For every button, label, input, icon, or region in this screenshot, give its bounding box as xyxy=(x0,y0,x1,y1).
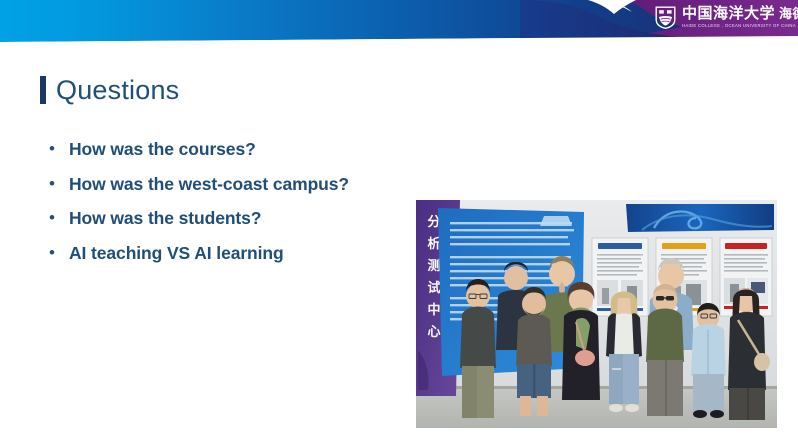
questions-list: • How was the courses? • How was the wes… xyxy=(45,138,415,276)
list-item-label: How was the students? xyxy=(69,207,261,229)
bullet-dot-icon: • xyxy=(45,207,69,229)
logo-college-name-cn: 海德学院 xyxy=(779,8,798,21)
college-crest-icon xyxy=(655,6,676,29)
bullet-dot-icon: • xyxy=(45,242,69,264)
bullet-dot-icon: • xyxy=(45,173,69,195)
logo-text: 中国海洋大学 海德学院 HAIDE COLLEGE , OCEAN UNIVER… xyxy=(682,6,798,28)
page-title-row: Questions xyxy=(40,76,179,104)
list-item: • How was the courses? xyxy=(45,138,415,160)
institution-logo: 中国海洋大学 海德学院 HAIDE COLLEGE , OCEAN UNIVER… xyxy=(655,6,798,29)
title-accent-bar xyxy=(40,76,46,104)
list-item: • How was the west-coast campus? xyxy=(45,173,415,195)
bullet-dot-icon: • xyxy=(45,138,69,160)
list-item-label: How was the west-coast campus? xyxy=(69,173,349,195)
logo-university-name-cn: 中国海洋大学 xyxy=(682,6,775,21)
list-item: • AI teaching VS AI learning xyxy=(45,242,415,264)
logo-english-name: HAIDE COLLEGE , OCEAN UNIVERSITY OF CHIN… xyxy=(682,24,798,28)
group-photo: 分 析 测 试 中 心 xyxy=(416,200,777,428)
list-item: • How was the students? xyxy=(45,207,415,229)
logo-chinese-line: 中国海洋大学 海德学院 xyxy=(682,6,798,21)
crest-shield-icon xyxy=(655,6,676,29)
list-item-label: AI teaching VS AI learning xyxy=(69,242,284,264)
list-item-label: How was the courses? xyxy=(69,138,256,160)
page-title: Questions xyxy=(56,77,179,104)
group-photo-illustration: 分 析 测 试 中 心 xyxy=(416,200,777,428)
